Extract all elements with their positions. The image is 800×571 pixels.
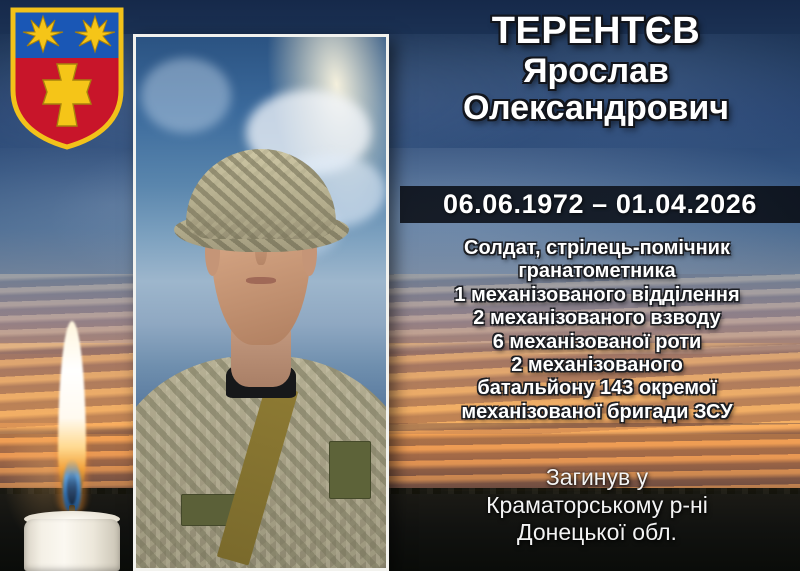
mouth <box>246 277 276 284</box>
life-dates-banner: 06.06.1972 – 01.04.2026 <box>400 186 800 223</box>
unit-line: 1 механізованого відділення <box>398 284 796 307</box>
soldier-figure <box>136 37 386 568</box>
given-name: Ярослав <box>398 54 794 89</box>
portrait-photo-frame <box>133 34 389 571</box>
candle-flame <box>46 317 98 513</box>
place-line: Краматорському р-ні <box>398 492 796 520</box>
flame-core <box>67 471 77 505</box>
memorial-candle <box>20 303 124 571</box>
patronymic: Олександрович <box>398 91 794 126</box>
place-line: Загинув у <box>398 464 796 492</box>
memorial-poster: ТЕРЕНТЄВ Ярослав Олександрович 06.06.197… <box>0 0 800 571</box>
uniform-patch <box>329 441 372 499</box>
unit-line: 2 механізованого <box>398 354 796 377</box>
place-of-death-block: Загинув у Краматорському р-ні Донецької … <box>398 464 796 547</box>
unit-line: гранатометника <box>398 260 796 283</box>
military-unit-shield-emblem <box>7 4 127 152</box>
candle-body <box>24 519 120 571</box>
boonie-hat <box>186 149 336 239</box>
unit-line: механізованої бригади ЗСУ <box>398 401 796 424</box>
unit-line: батальйону 143 окремої <box>398 377 796 400</box>
portrait-photo <box>136 37 386 568</box>
life-dates: 06.06.1972 – 01.04.2026 <box>443 189 757 220</box>
unit-line: Солдат, стрілець-помічник <box>398 237 796 260</box>
shield-icon <box>7 4 127 152</box>
text-column: ТЕРЕНТЄВ Ярослав Олександрович 06.06.197… <box>398 0 800 571</box>
surname: ТЕРЕНТЄВ <box>398 12 794 52</box>
rank-and-unit-block: Солдат, стрілець-помічник гранатометника… <box>398 237 796 424</box>
soldier-name: ТЕРЕНТЄВ Ярослав Олександрович <box>398 12 794 126</box>
unit-line: 6 механізованої роти <box>398 331 796 354</box>
unit-line: 2 механізованого взводу <box>398 307 796 330</box>
place-line: Донецької обл. <box>398 519 796 547</box>
